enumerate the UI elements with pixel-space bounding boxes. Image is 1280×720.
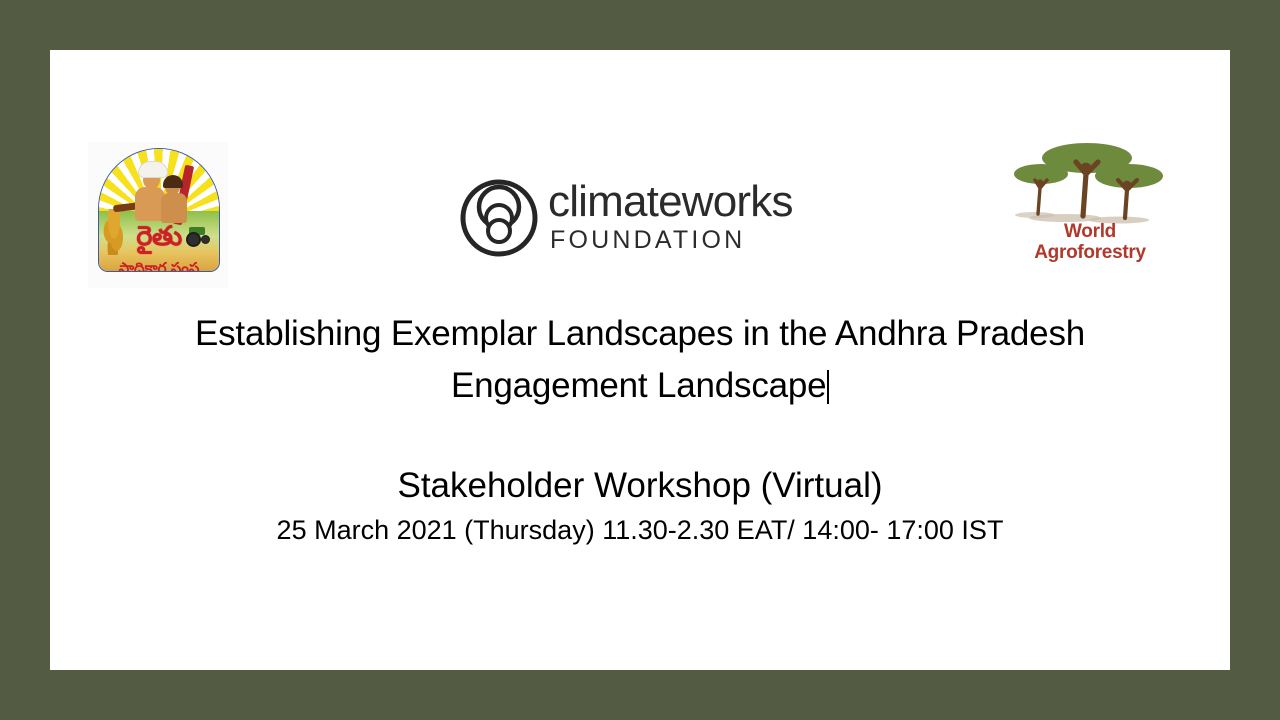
rythu-telugu-title: రైతు xyxy=(99,223,219,250)
world-agroforestry-wordmark: World Agroforestry xyxy=(1005,222,1175,263)
rythu-sadhikara-samstha-logo[interactable]: రైతు సాధికార సంస్థ xyxy=(88,142,228,288)
climateworks-foundation-logo[interactable]: climateworks FOUNDATION xyxy=(450,172,830,264)
logo-row: రైతు సాధికార సంస్థ xyxy=(50,130,1230,290)
slide-title-text: Establishing Exemplar Landscapes in the … xyxy=(195,314,1085,405)
rythu-telugu-subtitle: సాధికార సంస్థ xyxy=(99,261,219,272)
farmer-figures-icon xyxy=(99,149,219,271)
slide-background: రైతు సాధికార సంస్థ xyxy=(0,0,1280,720)
slide-datetime-textbox[interactable]: 25 March 2021 (Thursday) 11.30-2.30 EAT/… xyxy=(112,514,1168,546)
slide-subtitle-textbox[interactable]: Stakeholder Workshop (Virtual) xyxy=(112,465,1168,507)
world-agroforestry-logo[interactable]: World Agroforestry xyxy=(1005,138,1175,278)
agroforestry-line-2: Agroforestry xyxy=(1005,243,1175,264)
agroforestry-line-1: World xyxy=(1005,222,1175,243)
acacia-trees-icon xyxy=(1013,138,1165,226)
climateworks-foundation-wordmark: FOUNDATION xyxy=(550,228,745,253)
slide-datetime-text: 25 March 2021 (Thursday) 11.30-2.30 EAT/… xyxy=(277,515,1004,545)
slide-title-textbox[interactable]: Establishing Exemplar Landscapes in the … xyxy=(112,308,1168,412)
rythu-dome-frame: రైతు సాధికార సంస్థ xyxy=(98,148,220,272)
text-cursor-caret xyxy=(827,370,829,404)
slide-subtitle-text: Stakeholder Workshop (Virtual) xyxy=(397,466,882,505)
climateworks-circle-mark-icon xyxy=(458,177,540,259)
slide-canvas[interactable]: రైతు సాధికార సంస్థ xyxy=(50,50,1230,670)
climateworks-wordmark: climateworks xyxy=(548,180,793,224)
